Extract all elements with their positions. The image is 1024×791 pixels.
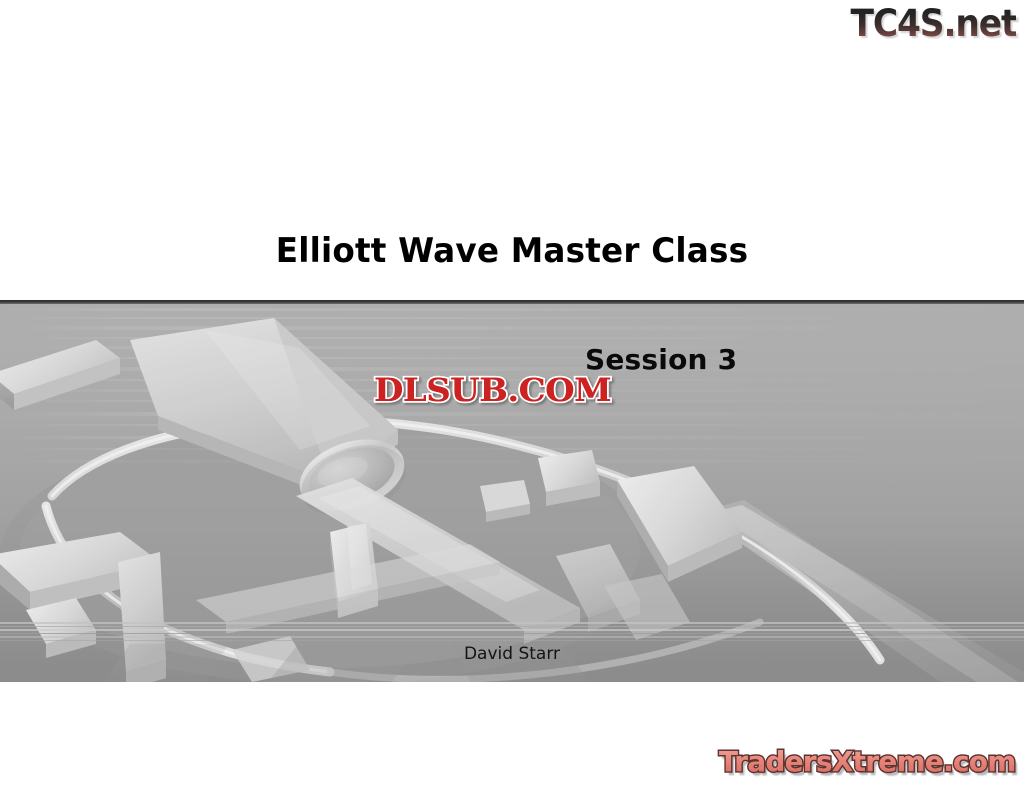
tc4s-net-logo: TC4S.net bbox=[850, 2, 1016, 46]
abstract-3d-artwork bbox=[0, 300, 1024, 682]
slide-picture-band bbox=[0, 300, 1024, 682]
tradersxtreme-logo: TradersXtreme.com TradersXtreme.com Trad… bbox=[686, 745, 1016, 783]
band-top-rule bbox=[0, 300, 1024, 304]
dlsub-watermark: DLSUB.COM bbox=[374, 372, 611, 408]
tradersxtreme-logo-fill: TradersXtreme.com bbox=[719, 745, 1016, 779]
presenter-name: David Starr bbox=[0, 644, 1024, 664]
slide-title: Elliott Wave Master Class bbox=[20, 231, 1003, 271]
presentation-slide: TC4S.net TC4S.net Elliott Wave Master Cl… bbox=[0, 0, 1024, 791]
